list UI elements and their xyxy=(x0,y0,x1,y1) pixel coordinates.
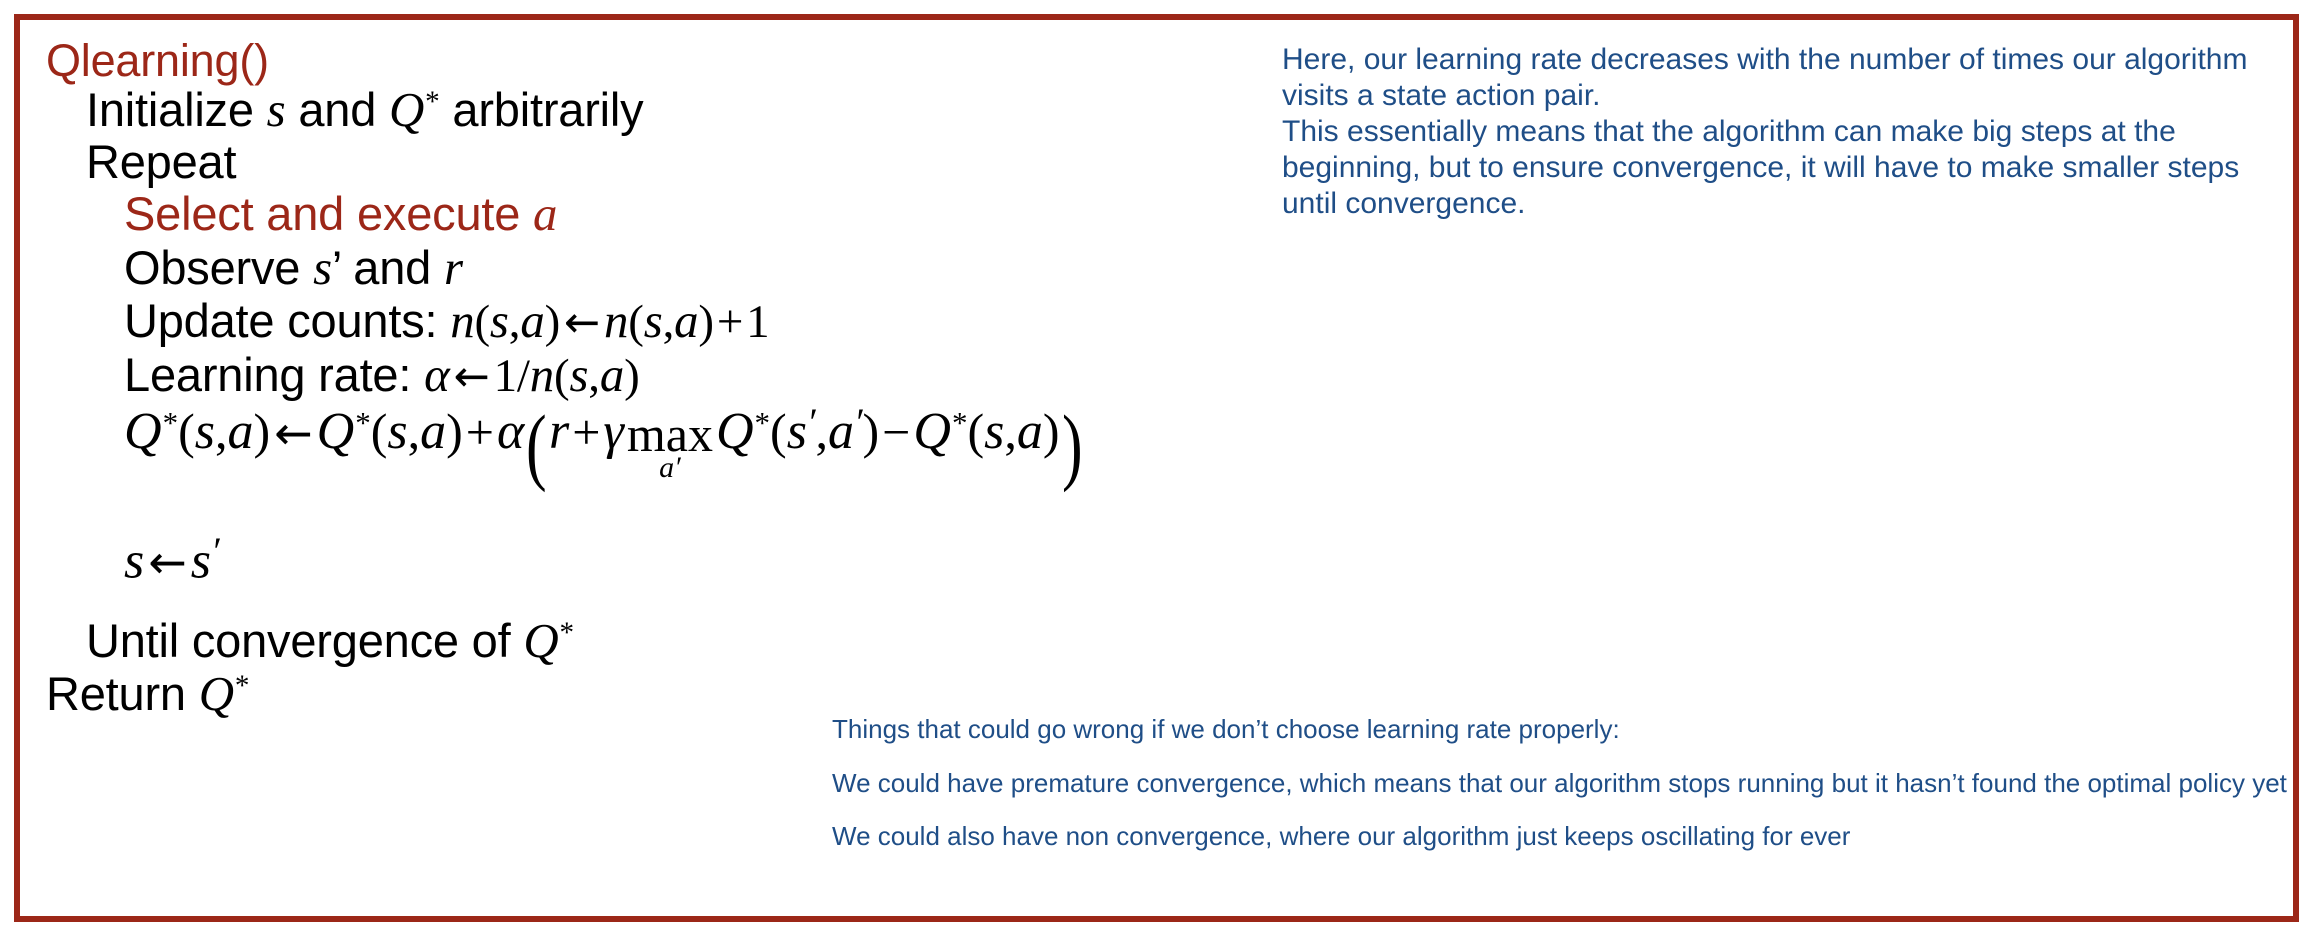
token-star: * xyxy=(755,405,771,440)
pseudocode-block: Qlearning() Initialize s and Q* arbitrar… xyxy=(46,38,1296,720)
slide-canvas: Qlearning() Initialize s and Q* arbitrar… xyxy=(0,0,2320,942)
token-fn-n: n xyxy=(450,293,474,348)
annotation-bottom-paragraph-2: We could have premature convergence, whi… xyxy=(832,768,2292,800)
line-state-assign: s←s′ xyxy=(46,532,1296,587)
token-var-a: a xyxy=(1017,404,1043,461)
token-alpha: α xyxy=(424,347,449,402)
annotation-top-paragraph-2: This essentially means that the algorith… xyxy=(1282,114,2302,222)
line-initialize: Initialize s and Q* arbitrarily xyxy=(46,83,1296,136)
token-open-paren: ( xyxy=(178,404,195,460)
token-open-paren: ( xyxy=(474,296,489,348)
token-var-a: a xyxy=(659,451,674,484)
token-initialize-post: arbitrarily xyxy=(440,83,644,136)
token-one: 1 xyxy=(746,296,769,348)
line-repeat: Repeat xyxy=(46,136,1296,187)
line-learning-rate: Learning rate: α←1/n(s,a) xyxy=(46,348,1296,402)
token-close-paren: ) xyxy=(698,296,713,348)
token-open-paren: ( xyxy=(371,404,388,460)
token-prime-mark: ′ xyxy=(854,401,863,444)
line-q-update: Q*(s,a)←Q*(s,a)+α(r+γmaxa′Q*(s′,a′)−Q*(s… xyxy=(46,402,1296,488)
token-comma: , xyxy=(509,296,521,348)
token-big-open-paren: ( xyxy=(526,402,547,488)
token-assign-arrow: ← xyxy=(450,352,494,402)
token-close-paren: ) xyxy=(863,404,880,460)
token-star: * xyxy=(235,670,249,702)
token-and: and xyxy=(286,83,390,136)
token-comma: , xyxy=(215,404,228,460)
token-observe-pre: Observe xyxy=(124,241,313,294)
token-var-a: a xyxy=(533,186,557,241)
token-var-Q: Q xyxy=(389,82,424,137)
token-star: * xyxy=(163,405,179,440)
token-alpha: α xyxy=(497,404,524,461)
token-var-a: a xyxy=(420,404,446,461)
token-var-Q: Q xyxy=(716,404,754,461)
annotation-top-paragraph-1: Here, our learning rate decreases with t… xyxy=(1282,42,2302,114)
token-max-subscript-a-prime: a′ xyxy=(659,455,681,481)
token-var-s: s xyxy=(313,240,332,295)
token-counts-label: Update counts: xyxy=(124,294,450,347)
token-assign-arrow: ← xyxy=(560,298,604,348)
token-var-s: s xyxy=(569,347,588,402)
token-var-Q: Q xyxy=(199,666,234,721)
token-plus: + xyxy=(569,404,603,460)
token-comma: , xyxy=(1004,404,1017,460)
token-until-pre: Until convergence of xyxy=(86,614,523,667)
token-plus: + xyxy=(463,404,497,460)
token-var-Q: Q xyxy=(124,404,162,461)
token-star: * xyxy=(425,86,439,118)
token-fn-n: n xyxy=(530,347,554,402)
token-minus: − xyxy=(879,404,913,460)
token-var-s: s xyxy=(490,293,509,348)
token-initialize-pre: Initialize xyxy=(86,83,267,136)
token-close-paren: ) xyxy=(446,404,463,460)
token-var-s: s xyxy=(644,293,663,348)
slide-border-frame: Qlearning() Initialize s and Q* arbitrar… xyxy=(14,14,2299,922)
token-var-a: a xyxy=(828,404,854,461)
token-var-Q: Q xyxy=(913,404,951,461)
token-gamma: γ xyxy=(603,404,624,461)
token-var-s: s xyxy=(191,533,211,590)
token-var-Q: Q xyxy=(523,613,558,668)
token-close-paren: ) xyxy=(624,350,639,402)
token-comma: , xyxy=(408,404,421,460)
token-var-a: a xyxy=(600,347,624,402)
line-return: Return Q* xyxy=(46,667,1296,720)
line-update-counts: Update counts: n(s,a)←n(s,a)+1 xyxy=(46,294,1296,348)
token-star: * xyxy=(559,617,573,649)
algorithm-title: Qlearning() xyxy=(46,38,1296,83)
token-assign-arrow: ← xyxy=(270,406,317,460)
token-var-s: s xyxy=(787,404,807,461)
token-assign-arrow: ← xyxy=(144,535,191,589)
token-plus: + xyxy=(714,296,746,348)
token-lr-label: Learning rate: xyxy=(124,348,424,401)
token-var-s: s xyxy=(267,82,286,137)
token-open-paren: ( xyxy=(770,404,787,460)
token-var-r: r xyxy=(444,240,463,295)
annotation-bottom-paragraph-3: We could also have non convergence, wher… xyxy=(832,821,2292,853)
post-equation-spacer xyxy=(46,588,1296,614)
token-one: 1 xyxy=(494,350,517,402)
equation-spacer xyxy=(46,488,1296,532)
token-open-paren: ( xyxy=(554,350,569,402)
token-var-r: r xyxy=(549,404,569,461)
annotation-top-right: Here, our learning rate decreases with t… xyxy=(1282,42,2302,222)
token-open-paren: ( xyxy=(628,296,643,348)
annotation-bottom-right: Things that could go wrong if we don’t c… xyxy=(832,714,2292,853)
token-var-s: s xyxy=(195,404,215,461)
token-var-s: s xyxy=(124,533,144,590)
token-slash: / xyxy=(517,350,530,402)
line-select-execute: Select and execute a xyxy=(46,187,1296,240)
token-comma: , xyxy=(663,296,675,348)
line-until-convergence: Until convergence of Q* xyxy=(46,614,1296,667)
token-and: and xyxy=(340,241,444,294)
token-var-Q: Q xyxy=(317,404,355,461)
token-star: * xyxy=(355,405,371,440)
token-star: * xyxy=(952,405,968,440)
token-big-close-paren: ) xyxy=(1062,402,1083,488)
token-comma: , xyxy=(588,350,600,402)
token-max-operator: maxa′ xyxy=(627,413,713,481)
token-close-paren: ) xyxy=(1043,404,1060,460)
annotation-bottom-paragraph-1: Things that could go wrong if we don’t c… xyxy=(832,714,2292,746)
token-prime-mark: ′ xyxy=(674,451,681,484)
token-open-paren: ( xyxy=(967,404,984,460)
token-prime-mark: ′ xyxy=(211,530,220,573)
token-var-a: a xyxy=(520,293,544,348)
token-select-pre: Select and execute xyxy=(124,187,533,240)
token-close-paren: ) xyxy=(545,296,560,348)
token-return-pre: Return xyxy=(46,667,199,720)
token-close-paren: ) xyxy=(253,404,270,460)
token-var-a: a xyxy=(674,293,698,348)
token-max-label: max xyxy=(627,413,713,456)
line-observe: Observe s’ and r xyxy=(46,241,1296,294)
token-comma: , xyxy=(815,404,828,460)
token-fn-n: n xyxy=(604,293,628,348)
token-var-s: s xyxy=(984,404,1004,461)
token-var-s: s xyxy=(387,404,407,461)
token-var-a: a xyxy=(227,404,253,461)
